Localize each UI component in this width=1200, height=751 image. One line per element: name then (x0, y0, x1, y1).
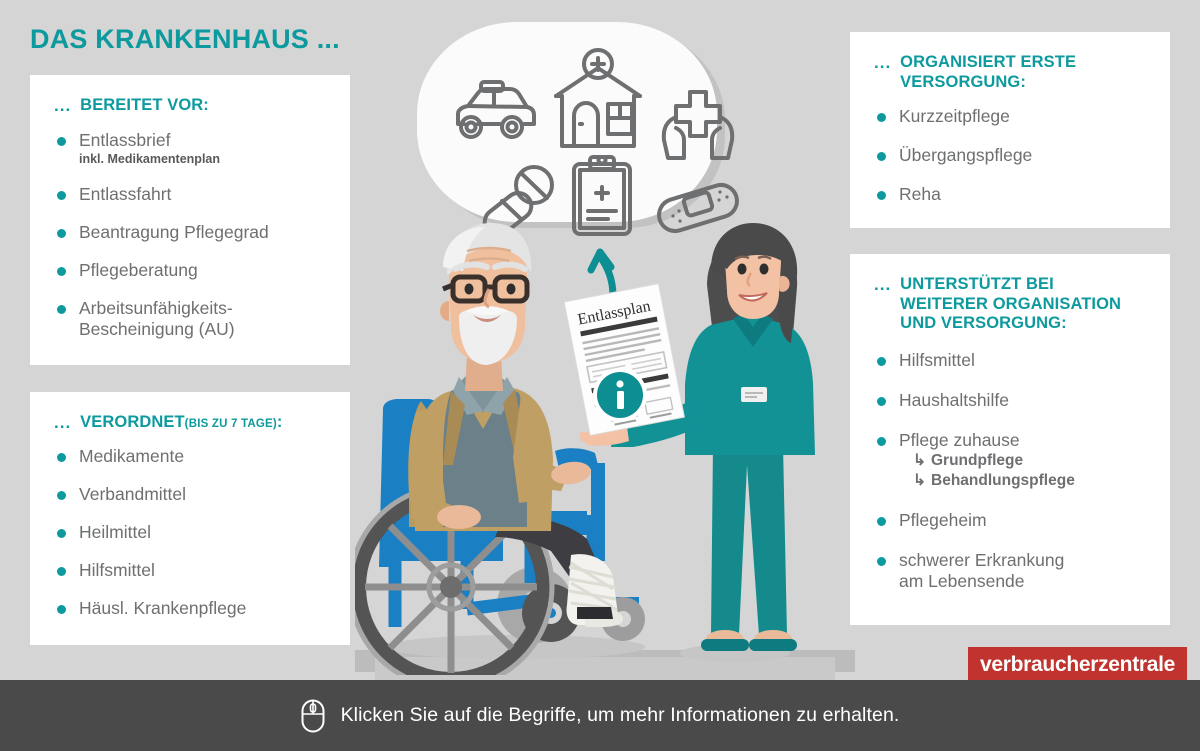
list-item[interactable]: Medikamente (57, 446, 336, 467)
list-item[interactable]: Beantragung Pflegegrad (57, 222, 336, 243)
info-badge (593, 368, 647, 422)
list-item[interactable]: Pflege zuhause ↳Grundpflege ↳Behandlungs… (877, 430, 1156, 491)
card-unterstuetzt-bei[interactable]: ... UNTERSTÜTZT BEI WEITERER ORGANISATIO… (850, 254, 1170, 625)
organisiert-list: Kurzzeitpflege Übergangspflege Reha (850, 92, 1170, 205)
taxi-car-icon (450, 80, 540, 146)
item-label: Pflegeheim (899, 510, 987, 530)
logo-text: verbraucherzentrale (980, 654, 1175, 675)
unterstuetzt-list: Hilfsmittel Haushaltshilfe Pflege zuhaus… (850, 334, 1170, 592)
sub-item-label: Behandlungspflege (931, 472, 1075, 489)
arrow-right-icon: ↳ (913, 471, 931, 491)
list-item[interactable]: Kurzzeitpflege (877, 106, 1156, 127)
card-title: UNTERSTÜTZT BEI WEITERER ORGANISATION UN… (900, 275, 1132, 334)
people-scene: Entlassplan (355, 215, 855, 675)
list-item[interactable]: Entlassbrief inkl. Medikamentenplan (57, 130, 336, 167)
item-label: Beantragung Pflegegrad (79, 222, 269, 242)
list-item[interactable]: Entlassfahrt (57, 184, 336, 205)
verbraucherzentrale-logo[interactable]: verbraucherzentrale (968, 647, 1187, 683)
item-label: Pflegeberatung (79, 260, 198, 280)
ellipsis-prefix: ... (54, 96, 71, 115)
item-label: Entlassbrief (79, 130, 170, 150)
list-item[interactable]: Hilfsmittel (877, 350, 1156, 371)
central-illustration: Entlassplan (355, 0, 855, 690)
item-label: Häusl. Krankenpflege (79, 598, 246, 618)
item-label: Verbandmittel (79, 484, 186, 504)
ellipsis-prefix: ... (874, 53, 891, 72)
list-item[interactable]: schwerer Erkrankung am Lebensende (877, 550, 1156, 592)
item-label: Hilfsmittel (899, 350, 975, 370)
card-title: BEREITET VOR: (80, 96, 209, 116)
card-title-main: VERORDNET (80, 413, 185, 431)
bottom-hint-text: Klicken Sie auf die Begriffe, um mehr In… (341, 704, 900, 727)
item-label: Reha (899, 184, 941, 204)
item-label: Pflege zuhause (899, 430, 1020, 450)
list-item[interactable]: Übergangspflege (877, 145, 1156, 166)
item-label: Hilfsmittel (79, 560, 155, 580)
list-item[interactable]: Arbeitsunfähigkeits- Bescheinigung (AU) (57, 298, 336, 340)
bottom-hint-bar: Klicken Sie auf die Begriffe, um mehr In… (0, 680, 1200, 751)
item-label: Medikamente (79, 446, 184, 466)
list-item[interactable]: Haushaltshilfe (877, 390, 1156, 411)
card-title: VERORDNET(BIS ZU 7 TAGE): (80, 413, 282, 435)
list-item[interactable]: Reha (877, 184, 1156, 205)
sub-item-label: Grundpflege (931, 452, 1023, 469)
card-header: ... ORGANISIERT ERSTE VERSORGUNG: (850, 32, 1170, 92)
card-verordnet[interactable]: ... VERORDNET(BIS ZU 7 TAGE): Medikament… (30, 392, 350, 645)
item-label: schwerer Erkrankung am Lebensende (899, 550, 1064, 591)
elderly-man-in-wheelchair (355, 223, 645, 675)
card-title-colon: : (277, 413, 283, 431)
infographic-stage: DAS KRANKENHAUS ... (0, 0, 1200, 751)
card-header: ... UNTERSTÜTZT BEI WEITERER ORGANISATIO… (850, 254, 1170, 334)
arrow-right-icon: ↳ (913, 451, 931, 471)
card-header: ... VERORDNET(BIS ZU 7 TAGE): (30, 392, 350, 435)
hands-holding-cross-icon (660, 78, 742, 164)
page-title: DAS KRANKENHAUS ... (30, 24, 340, 55)
hospital-building-icon (550, 48, 646, 152)
list-item[interactable]: Verbandmittel (57, 484, 336, 505)
sub-item[interactable]: ↳Grundpflege (899, 451, 1156, 471)
item-sublabel: inkl. Medikamentenplan (79, 152, 336, 167)
list-item[interactable]: Pflegeheim (877, 510, 1156, 531)
item-label: Haushaltshilfe (899, 390, 1009, 410)
verordnet-list: Medikamente Verbandmittel Heilmittel Hil… (30, 435, 350, 619)
list-item[interactable]: Häusl. Krankenpflege (57, 598, 336, 619)
list-item[interactable]: Hilfsmittel (57, 560, 336, 581)
mouse-icon (301, 699, 325, 733)
item-label: Entlassfahrt (79, 184, 171, 204)
ellipsis-prefix: ... (54, 413, 71, 432)
card-header: ... BEREITET VOR: (30, 75, 350, 116)
list-item[interactable]: Heilmittel (57, 522, 336, 543)
card-title: ORGANISIERT ERSTE VERSORGUNG: (900, 53, 1115, 92)
item-label: Arbeitsunfähigkeits- Bescheinigung (AU) (79, 298, 235, 339)
bereitet-list: Entlassbrief inkl. Medikamentenplan Entl… (30, 116, 350, 340)
item-label: Heilmittel (79, 522, 151, 542)
sub-item[interactable]: ↳Behandlungspflege (899, 471, 1156, 491)
card-title-note: (BIS ZU 7 TAGE) (185, 418, 277, 430)
item-label: Kurzzeitpflege (899, 106, 1010, 126)
list-item[interactable]: Pflegeberatung (57, 260, 336, 281)
card-organisiert-erste-versorgung[interactable]: ... ORGANISIERT ERSTE VERSORGUNG: Kurzze… (850, 32, 1170, 228)
ellipsis-prefix: ... (874, 275, 891, 294)
card-bereitet-vor[interactable]: ... BEREITET VOR: Entlassbrief inkl. Med… (30, 75, 350, 365)
item-label: Übergangspflege (899, 145, 1032, 165)
